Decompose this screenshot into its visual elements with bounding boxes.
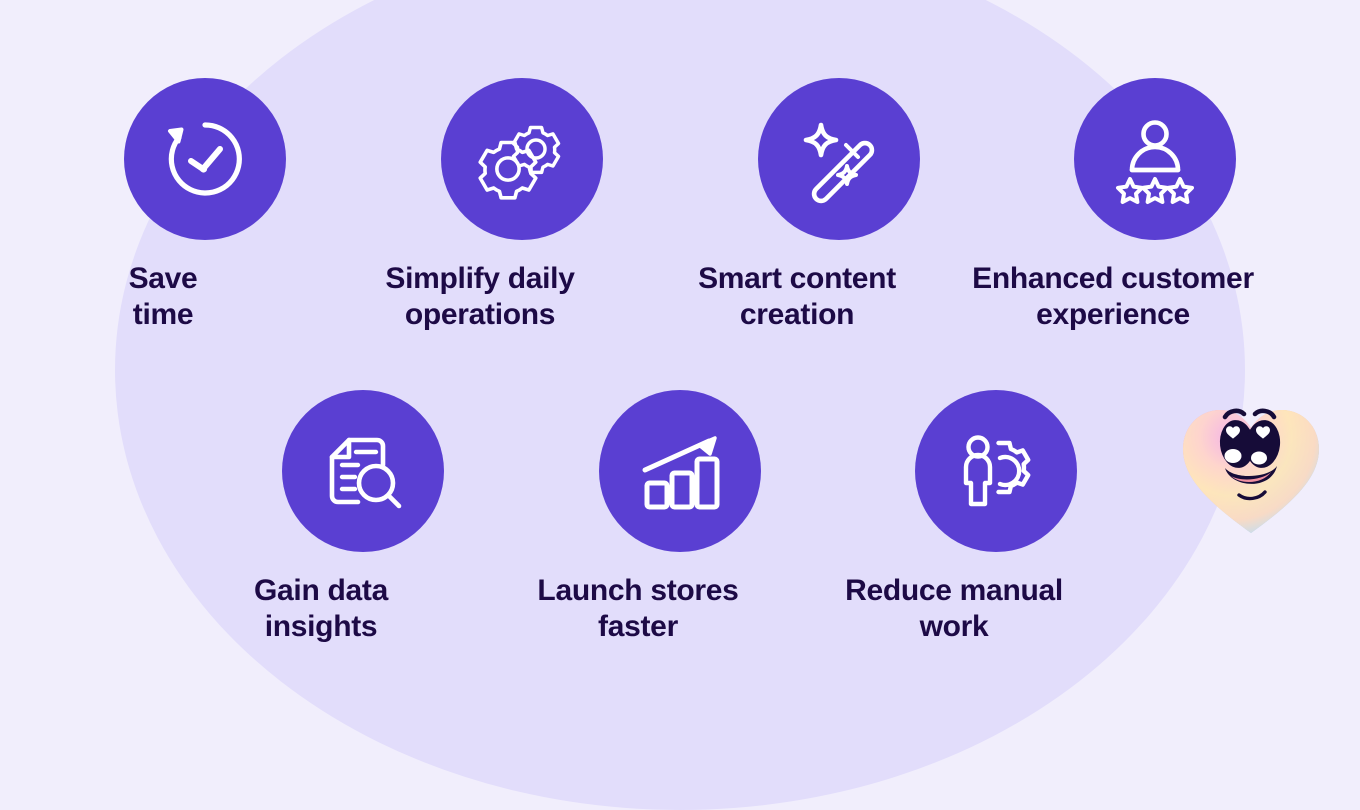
person-stars-icon — [1106, 110, 1204, 208]
icon-circle — [1074, 78, 1236, 240]
benefit-card-simplify-operations[interactable]: Simplify daily operations — [441, 78, 603, 333]
benefits-grid: Save time Simplify daily operations — [0, 0, 1360, 736]
benefit-card-reduce-manual-work[interactable]: Reduce manual work — [915, 390, 1077, 645]
clock-arrow-icon — [157, 111, 253, 207]
growth-chart-icon — [632, 423, 728, 519]
person-gear-icon — [948, 423, 1044, 519]
icon-circle — [599, 390, 761, 552]
benefit-label: Reduce manual work — [789, 573, 1119, 645]
icon-circle — [441, 78, 603, 240]
benefit-card-save-time[interactable]: Save time — [124, 78, 286, 333]
benefit-label: Save time — [0, 261, 328, 333]
icon-circle — [282, 390, 444, 552]
benefit-card-customer-experience[interactable]: Enhanced customer experience — [1074, 78, 1236, 333]
magic-wand-sparkle-icon — [791, 111, 887, 207]
smiling-heart-mascot-icon — [1175, 392, 1327, 544]
benefit-label: Smart content creation — [632, 261, 962, 333]
benefit-label: Enhanced customer experience — [948, 261, 1278, 333]
benefit-card-smart-content[interactable]: Smart content creation — [758, 78, 920, 333]
benefit-label: Simplify daily operations — [315, 261, 645, 333]
benefit-card-data-insights[interactable]: Gain data insights — [282, 390, 444, 645]
icon-circle — [915, 390, 1077, 552]
gears-icon — [472, 109, 572, 209]
document-search-icon — [315, 423, 411, 519]
icon-circle — [758, 78, 920, 240]
icon-circle — [124, 78, 286, 240]
benefit-label: Gain data insights — [156, 573, 486, 645]
benefit-label: Launch stores faster — [473, 573, 803, 645]
benefit-card-launch-faster[interactable]: Launch stores faster — [599, 390, 761, 645]
